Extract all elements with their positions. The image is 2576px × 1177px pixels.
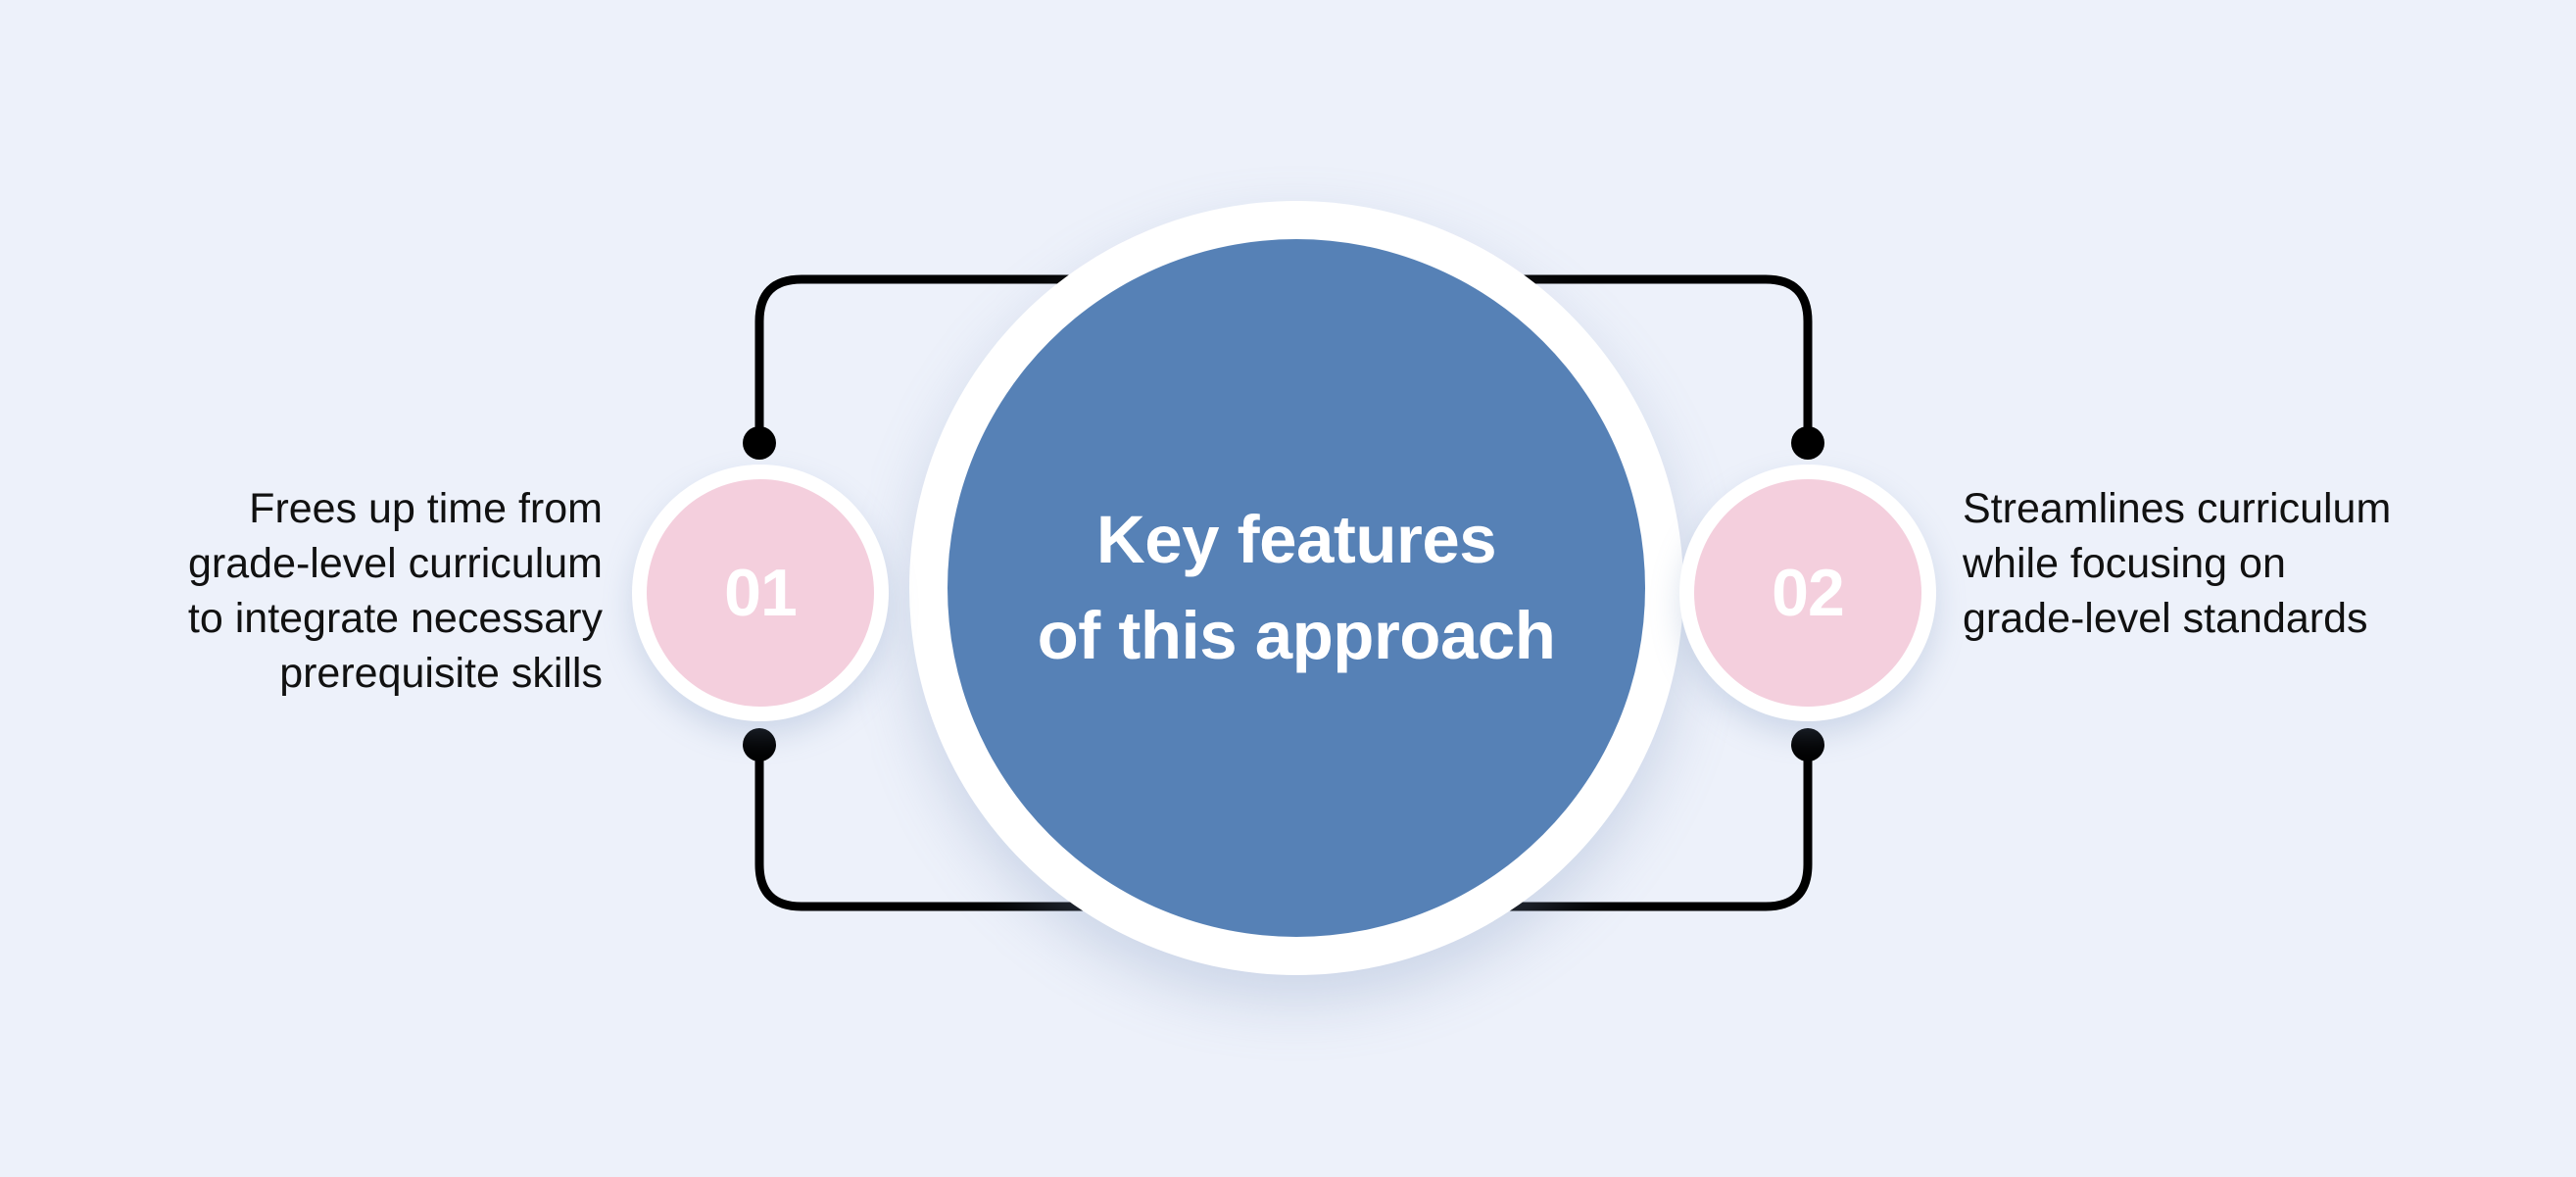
badge-number-02: 02 (1772, 560, 1844, 626)
central-hub-title: Key features of this approach (1004, 492, 1589, 684)
connector-dot-top-left (743, 426, 776, 460)
item-description-02: Streamlines curriculum while focusing on… (1963, 482, 2570, 647)
central-hub-inner: Key features of this approach (948, 239, 1645, 937)
badge-circle-02[interactable]: 02 (1679, 465, 1936, 721)
connector-dot-bottom-left (743, 728, 776, 761)
badge-number-01: 01 (724, 560, 797, 626)
connector-dot-top-right (1791, 426, 1824, 460)
connector-dot-bottom-right (1791, 728, 1824, 761)
badge-inner-02: 02 (1694, 479, 1921, 707)
central-hub-circle: Key features of this approach (909, 201, 1683, 975)
badge-inner-01: 01 (647, 479, 874, 707)
item-description-01: Frees up time from grade-level curriculu… (0, 482, 603, 702)
diagram-canvas: Frees up time from grade-level curriculu… (0, 0, 2576, 1177)
badge-circle-01[interactable]: 01 (632, 465, 889, 721)
